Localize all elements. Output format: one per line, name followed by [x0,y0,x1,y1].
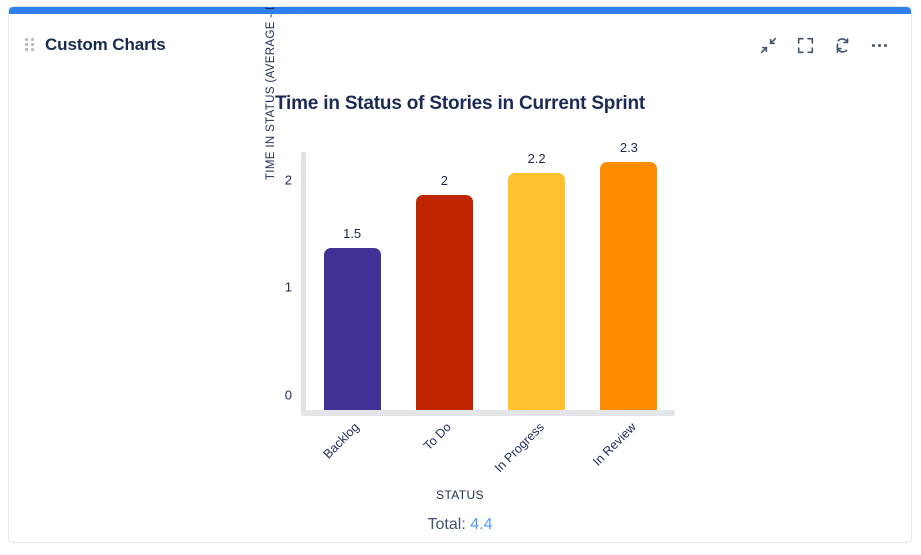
fullscreen-icon[interactable] [795,35,815,55]
x-tick-label: To Do [421,420,454,453]
bar-value-label: 2.2 [528,151,546,166]
x-tick-label: Backlog [321,420,362,461]
bar[interactable]: 2.2In Progress [508,173,565,410]
bar-value-label: 1.5 [343,226,361,241]
bar-slot: 2.3In Review [583,146,675,410]
bar-slot: 1.5Backlog [306,146,398,410]
y-tick-label: 1 [285,280,292,295]
card-header: Custom Charts [9,14,911,76]
x-tick-label: In Progress [491,420,546,475]
bar[interactable]: 2To Do [416,195,473,411]
total-value: 4.4 [470,516,492,533]
collapse-icon[interactable] [758,35,778,55]
x-axis-line [301,410,675,416]
page-title: Custom Charts [45,35,166,55]
screen: Custom Charts [0,0,921,555]
bar-slot: 2.2In Progress [491,146,583,410]
card-header-left: Custom Charts [25,35,758,55]
custom-charts-card: Custom Charts [8,6,912,543]
x-axis-label: STATUS [9,488,911,502]
y-axis-label: TIME IN STATUS (AVERAGE - DAYS) [265,6,277,192]
refresh-icon[interactable] [832,35,852,55]
bar-series: 1.5Backlog2To Do2.2In Progress2.3In Revi… [306,146,675,410]
bar-value-label: 2 [441,173,448,188]
chart-plot-area: TIME IN STATUS (AVERAGE - DAYS) 012 1.5B… [301,146,675,416]
total-label: Total: [428,516,466,533]
chart-total: Total: 4.4 [9,516,911,534]
bar[interactable]: 2.3In Review [600,162,657,410]
chart-title: Time in Status of Stories in Current Spr… [9,93,911,115]
drag-handle-icon[interactable] [25,38,35,53]
card-accent-bar [9,7,911,14]
more-options-icon[interactable] [869,35,889,55]
y-tick-label: 0 [285,388,292,403]
bar-value-label: 2.3 [620,140,638,155]
bar-slot: 2To Do [398,146,490,410]
bar[interactable]: 1.5Backlog [324,248,381,410]
y-tick-label: 2 [285,172,292,187]
chart-container: Time in Status of Stories in Current Spr… [9,76,911,543]
x-tick-label: In Review [590,420,639,469]
card-header-actions [758,35,889,55]
